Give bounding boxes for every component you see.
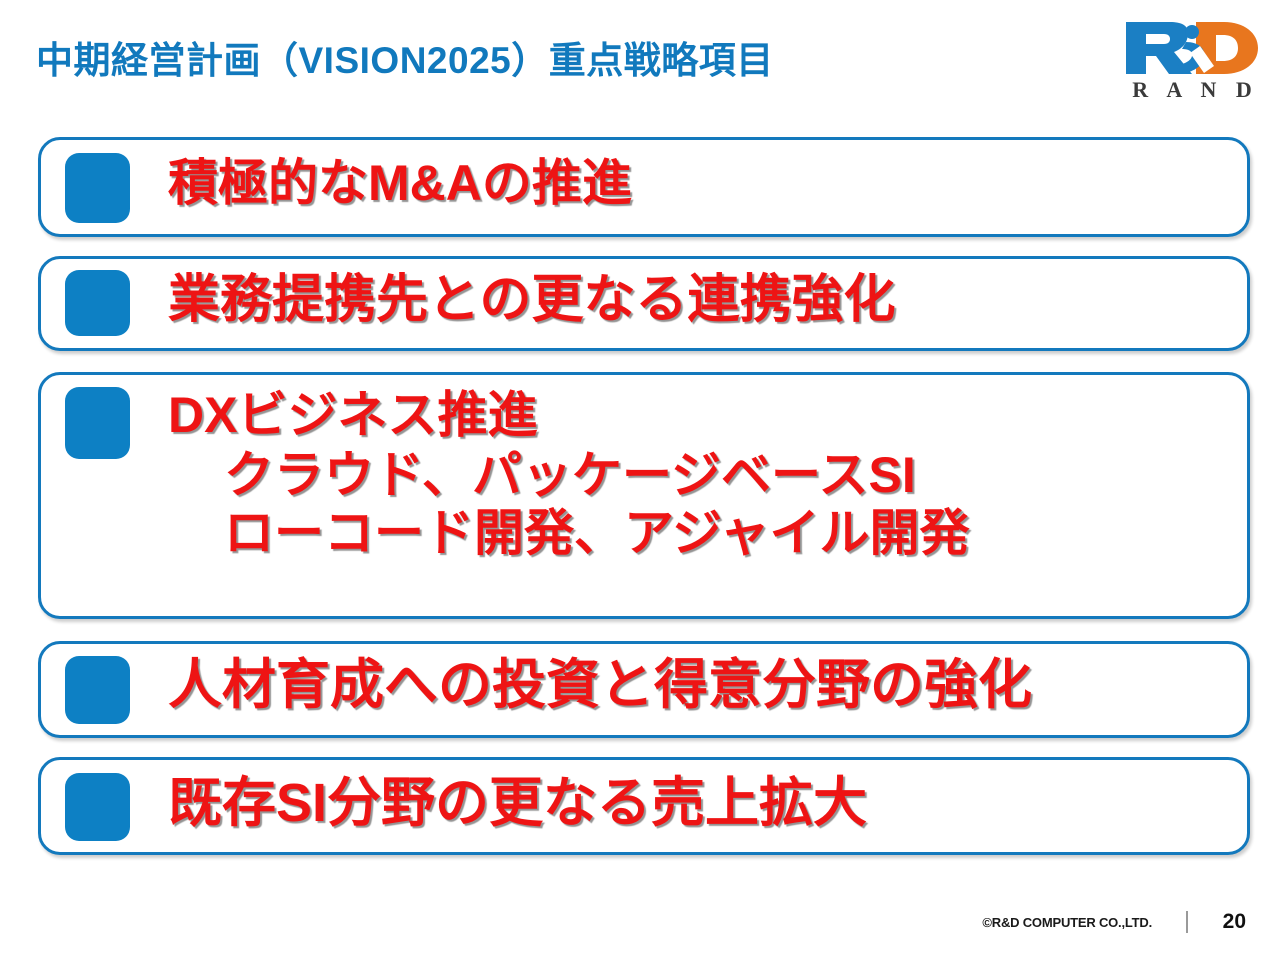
strategy-item-3: DXビジネス推進 クラウド、パッケージベースSI ローコード開発、アジャイル開発 — [38, 372, 1250, 619]
bullet-square-icon — [65, 656, 130, 724]
strategy-item-4-text: 人材育成への投資と得意分野の強化 — [168, 657, 1247, 713]
bullet-square-icon — [65, 270, 130, 336]
strategy-subline: クラウド、パッケージベースSI — [168, 449, 1247, 501]
strategy-subline: ローコード開発、アジャイル開発 — [168, 507, 1247, 559]
strategy-item-3-text: DXビジネス推進 クラウド、パッケージベースSI ローコード開発、アジャイル開発 — [168, 389, 1247, 559]
footer-divider — [1186, 911, 1188, 933]
strategy-line: DXビジネス推進 — [168, 389, 1247, 441]
strategy-item-2-text: 業務提携先との更なる連携強化 — [168, 273, 1247, 327]
strategy-item-5-text: 既存SI分野の更なる売上拡大 — [168, 775, 1247, 831]
strategy-item-2: 業務提携先との更なる連携強化 — [38, 256, 1250, 351]
strategy-item-5: 既存SI分野の更なる売上拡大 — [38, 757, 1250, 855]
slide-footer: ©R&D COMPUTER CO.,LTD. 20 — [0, 900, 1280, 944]
bullet-square-icon — [65, 387, 130, 459]
strategy-line: 人材育成への投資と得意分野の強化 — [168, 657, 1247, 713]
strategy-item-4: 人材育成への投資と得意分野の強化 — [38, 641, 1250, 738]
bullet-square-icon — [65, 153, 130, 223]
strategy-item-1: 積極的なM&Aの推進 — [38, 137, 1250, 237]
bullet-square-icon — [65, 773, 130, 841]
page-number: 20 — [1218, 910, 1246, 934]
strategy-line: 既存SI分野の更なる売上拡大 — [168, 775, 1247, 831]
copyright-text: ©R&D COMPUTER CO.,LTD. — [982, 915, 1152, 930]
strategy-line: 積極的なM&Aの推進 — [168, 157, 1247, 209]
strategy-list: 積極的なM&Aの推進 業務提携先との更なる連携強化 DXビジネス推進 クラウド、… — [0, 0, 1280, 960]
strategy-item-1-text: 積極的なM&Aの推進 — [168, 157, 1247, 209]
strategy-line: 業務提携先との更なる連携強化 — [168, 273, 1247, 327]
